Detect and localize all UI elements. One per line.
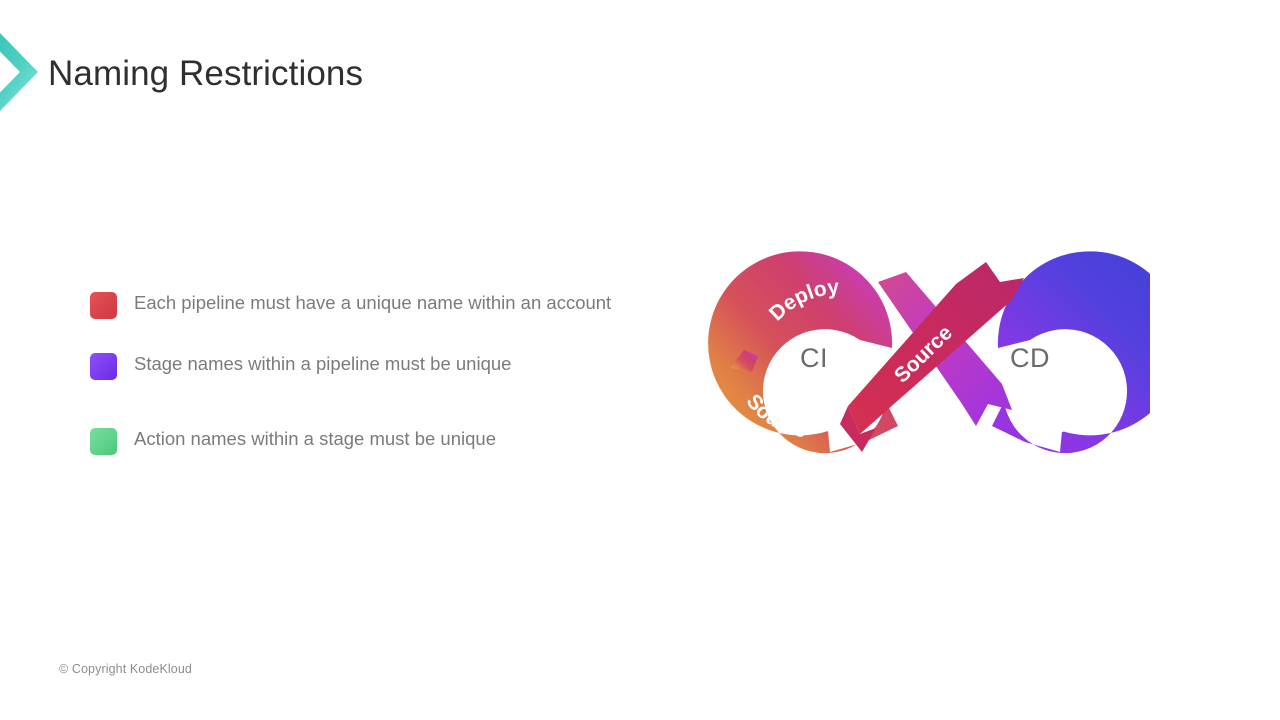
slide-header: Naming Restrictions [0, 26, 1280, 126]
slide-root: Naming Restrictions Each pipeline must h… [0, 0, 1280, 720]
infinity-loop-svg: Deploy Source Source Test [700, 238, 1150, 483]
page-title: Naming Restrictions [48, 54, 363, 94]
list-item: Each pipeline must have a unique name wi… [90, 290, 650, 319]
stage-label-source-left: Source [741, 390, 808, 442]
chevron-right-icon [0, 33, 38, 111]
bullet-text: Action names within a stage must be uniq… [134, 426, 496, 452]
bullet-marker-purple [90, 353, 117, 380]
loop-center-label-cd: CD [1010, 343, 1050, 374]
loop-center-label-ci: CI [800, 343, 828, 374]
bullet-marker-green [90, 428, 117, 455]
list-item: Action names within a stage must be uniq… [90, 426, 650, 455]
bullet-marker-red [90, 292, 117, 319]
stage-label-test: Test [1050, 399, 1095, 439]
bullet-text: Each pipeline must have a unique name wi… [134, 290, 611, 316]
footer-copyright: © Copyright KodeKloud [59, 662, 192, 676]
ci-cd-infinity-loop: Deploy Source Source Test CI CD [700, 238, 1150, 483]
list-item: Stage names within a pipeline must be un… [90, 351, 650, 380]
bullet-text: Stage names within a pipeline must be un… [134, 351, 511, 377]
bullet-list: Each pipeline must have a unique name wi… [90, 290, 650, 487]
